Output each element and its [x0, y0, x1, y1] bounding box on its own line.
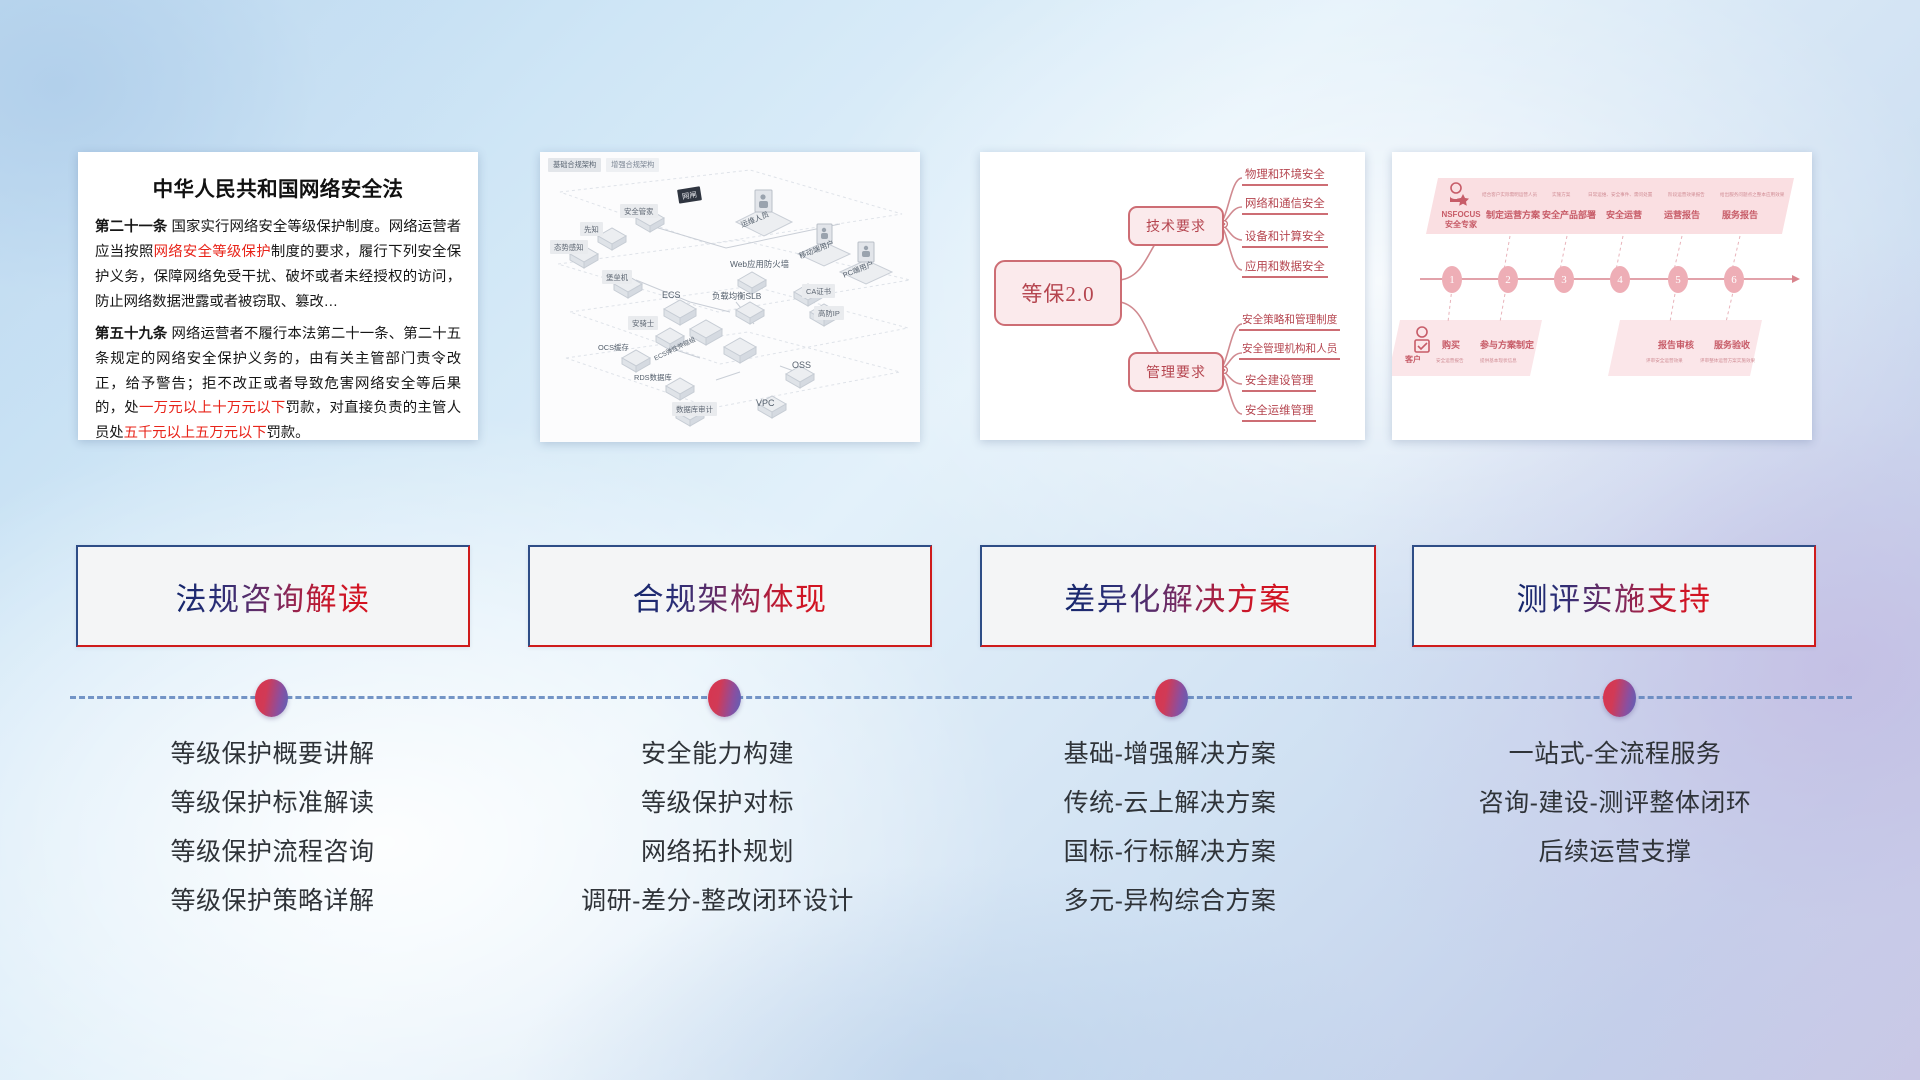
mindmap-leaf: 应用和数据安全 [1242, 258, 1328, 278]
list-item: 等级保护流程咨询 [60, 840, 485, 865]
nsfocus-service-flow-card: NSFOCUS 安全专家 客户 结合客户实际需明运营人员 制定运营方案 实施方案… [1392, 152, 1812, 440]
arch-node-label-xianzhi: 先知 [580, 222, 603, 236]
nsfocus-brand: NSFOCUS 安全专家 [1430, 210, 1492, 230]
timeline-dot-3[interactable] [1155, 679, 1188, 717]
arch-node-label-db-audit: 数据库审计 [672, 402, 717, 416]
card-row: 中华人民共和国网络安全法 第二十一条 国家实行网络安全等级保护制度。网络运营者应… [0, 152, 1920, 447]
timeline-dashed-line [70, 696, 1852, 699]
list-item: 咨询-建设-测评整体闭环 [1400, 791, 1830, 816]
mindmap-leaf: 安全策略和管理制度 [1239, 312, 1340, 331]
detail-column-compliance-architecture: 安全能力构建 等级保护对标 网络拓扑规划 调研-差分-整改闭环设计 [505, 742, 930, 938]
arch-node-label-anqishi: 安骑士 [628, 316, 658, 330]
list-item: 多元-异构综合方案 [955, 889, 1385, 914]
law-paragraph: 第二十一条 国家实行网络安全等级保护制度。网络运营者应当按照网络安全等级保护制度… [95, 215, 461, 315]
nsfocus-step-sub: 给出服务问题点之整本应用效果 [1720, 192, 1784, 198]
mindmap-branch-technical: 技术要求 [1128, 206, 1224, 246]
cloud-architecture-card: 基础合规架构 增强合规架构 [540, 152, 920, 442]
detail-column-evaluation-support: 一站式-全流程服务 咨询-建设-测评整体闭环 后续运营支撑 [1400, 742, 1830, 889]
list-item: 传统-云上解决方案 [955, 791, 1385, 816]
list-item: 等级保护概要讲解 [60, 742, 485, 767]
step-number-badge: 2 [1498, 266, 1518, 293]
arch-node-label-situation-awareness: 态势感知 [550, 240, 588, 254]
service-flow-diagram: NSFOCUS 安全专家 客户 结合客户实际需明运营人员 制定运营方案 实施方案… [1392, 152, 1812, 440]
arch-node-label-security-butler: 安全管家 [620, 204, 658, 218]
customer-step-title: 报告审核 [1658, 338, 1694, 351]
timeline-dot-1[interactable] [255, 679, 288, 717]
law-title: 中华人民共和国网络安全法 [95, 172, 461, 202]
list-item: 安全能力构建 [505, 742, 930, 767]
nsfocus-brand-name: NSFOCUS [1441, 210, 1480, 219]
arch-node-label-bastion: 堡垒机 [602, 270, 632, 284]
customer-step-title: 购买 [1442, 338, 1460, 351]
customer-step-sub: 评审整体运营方案实施效果 [1700, 358, 1755, 364]
law-document-card: 中华人民共和国网络安全法 第二十一条 国家实行网络安全等级保护制度。网络运营者应… [78, 152, 478, 440]
step-number-badge: 5 [1668, 266, 1688, 293]
list-item: 一站式-全流程服务 [1400, 742, 1830, 767]
list-item: 基础-增强解决方案 [955, 742, 1385, 767]
mindmap-leaf: 安全管理机构和人员 [1239, 341, 1340, 360]
arch-node-label-rds: RDS数据库 [634, 372, 672, 383]
law-article-number: 第二十一条 [95, 219, 167, 235]
headline-row: 法规咨询解读 合规架构体现 差异化解决方案 测评实施支持 [0, 545, 1920, 650]
nsfocus-step-sub: 日常运维、安全事件、需问处置 [1588, 192, 1652, 198]
mindmap-root: 等保2.0 [994, 260, 1122, 326]
law-highlight-segment: 网络安全等级保护 [154, 244, 271, 260]
arch-node-label-waf: Web应用防火墙 [730, 258, 789, 270]
detail-column-differentiated-solutions: 基础-增强解决方案 传统-云上解决方案 国标-行标解决方案 多元-异构综合方案 [955, 742, 1385, 938]
arch-node-label-ca-cert: CA证书 [802, 284, 835, 298]
customer-step-title: 服务验收 [1714, 338, 1750, 351]
headline-label: 法规咨询解读 [176, 574, 371, 619]
law-highlight-segment: 一万元以上十万元以下 [139, 400, 286, 416]
headline-box-regulation[interactable]: 法规咨询解读 [76, 545, 470, 647]
timeline [0, 668, 1920, 728]
nsfocus-step-title: 安全运营 [1606, 208, 1642, 221]
law-article-number: 第五十九条 [95, 326, 167, 342]
arch-node-label-anti-ddos: 高防IP [814, 306, 844, 320]
customer-step-sub: 安全运营报告 [1436, 358, 1464, 364]
detail-columns: 等级保护概要讲解 等级保护标准解读 等级保护流程咨询 等级保护策略详解 安全能力… [0, 742, 1920, 972]
arch-node-label-ecs: ECS [662, 290, 681, 300]
slide-stage: 中华人民共和国网络安全法 第二十一条 国家实行网络安全等级保护制度。网络运营者应… [0, 0, 1920, 1080]
detail-column-regulation-consulting: 等级保护概要讲解 等级保护标准解读 等级保护流程咨询 等级保护策略详解 [60, 742, 485, 938]
nsfocus-step-sub: 实施方案 [1552, 192, 1570, 198]
list-item: 网络拓扑规划 [505, 840, 930, 865]
mindmap-diagram: 等保2.0 技术要求 物理和环境安全 网络和通信安全 设备和计算安全 应用和数据… [980, 152, 1365, 440]
law-text-segment: 罚款。 [267, 425, 310, 440]
timeline-dot-2[interactable] [708, 679, 741, 717]
customer-step-sub: 提供基本现状信息 [1480, 358, 1517, 364]
list-item: 调研-差分-整改闭环设计 [505, 889, 930, 914]
mindmap-leaf: 安全运维管理 [1242, 402, 1316, 422]
arch-node-label-ocs-cache: OCS缓存 [598, 342, 629, 353]
dengbao-mindmap-card: 等保2.0 技术要求 物理和环境安全 网络和通信安全 设备和计算安全 应用和数据… [980, 152, 1365, 440]
nsfocus-step-sub: 结合客户实际需明运营人员 [1482, 192, 1537, 198]
list-item: 后续运营支撑 [1400, 840, 1830, 865]
headline-box-evaluation[interactable]: 测评实施支持 [1412, 545, 1816, 647]
customer-step-sub: 评审安全运营效果 [1646, 358, 1683, 364]
nsfocus-step-title: 运营报告 [1664, 208, 1700, 221]
list-item: 等级保护策略详解 [60, 889, 485, 914]
arch-node-label-slb: 负载均衡SLB [712, 290, 761, 302]
customer-step-title: 参与方案制定 [1480, 338, 1534, 351]
headline-label: 合规架构体现 [633, 574, 828, 619]
mindmap-leaf: 安全建设管理 [1242, 372, 1316, 392]
mindmap-leaf: 设备和计算安全 [1242, 228, 1328, 248]
law-body: 中华人民共和国网络安全法 第二十一条 国家实行网络安全等级保护制度。网络运营者应… [78, 152, 478, 440]
mindmap-leaf: 物理和环境安全 [1242, 166, 1328, 186]
step-number-badge: 6 [1724, 266, 1744, 293]
mindmap-leaf: 网络和通信安全 [1242, 195, 1328, 215]
headline-box-solutions[interactable]: 差异化解决方案 [980, 545, 1376, 647]
nsfocus-step-sub: 阶段运营效果报告 [1668, 192, 1705, 198]
mindmap-branch-management: 管理要求 [1128, 352, 1224, 392]
architecture-diagram: 基础合规架构 增强合规架构 [540, 152, 920, 442]
nsfocus-brand-role: 安全专家 [1445, 220, 1477, 229]
timeline-dot-4[interactable] [1603, 679, 1636, 717]
law-paragraph: 第五十九条 网络运营者不履行本法第二十一条、第二十五条规定的网络安全保护义务的，… [95, 322, 461, 440]
headline-label: 差异化解决方案 [1064, 574, 1292, 619]
nsfocus-step-title: 服务报告 [1722, 208, 1758, 221]
list-item: 国标-行标解决方案 [955, 840, 1385, 865]
headline-label: 测评实施支持 [1517, 574, 1712, 619]
customer-label: 客户 [1405, 354, 1421, 365]
step-number-badge: 3 [1554, 266, 1574, 293]
step-number-badge: 4 [1610, 266, 1630, 293]
step-number-badge: 1 [1442, 266, 1462, 293]
arch-node-label-vpc: VPC [756, 398, 775, 408]
list-item: 等级保护对标 [505, 791, 930, 816]
law-highlight-segment: 五千元以上五万元以下 [124, 425, 267, 440]
list-item: 等级保护标准解读 [60, 791, 485, 816]
arch-node-label-oss: OSS [792, 360, 811, 370]
headline-box-architecture[interactable]: 合规架构体现 [528, 545, 932, 647]
nsfocus-step-title: 制定运营方案 [1486, 208, 1540, 221]
nsfocus-step-title: 安全产品部署 [1542, 208, 1596, 221]
